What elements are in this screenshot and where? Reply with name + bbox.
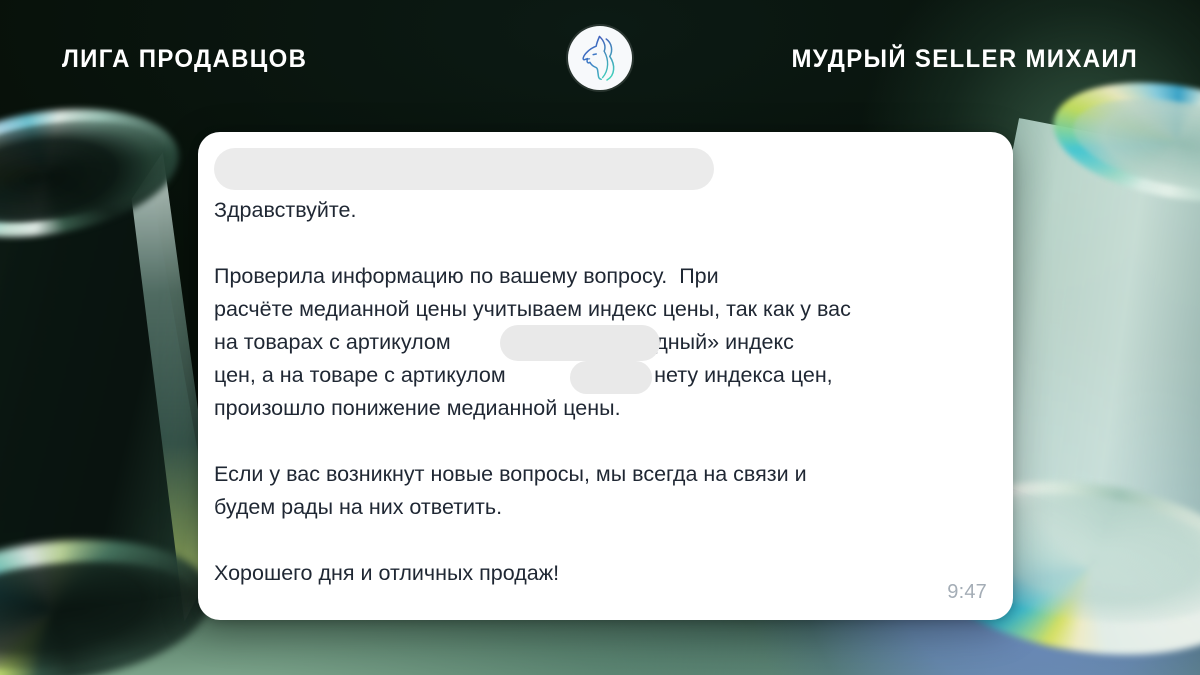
chat-message-card[interactable]: Здравствуйте. Проверила информацию по ва… xyxy=(198,132,1013,620)
brand-left-title: ЛИГА ПРОДАВЦОВ xyxy=(62,45,307,74)
page-header: ЛИГА ПРОДАВЦОВ МУДРЫЙ SELLER МИХАИЛ xyxy=(0,0,1200,118)
screenshot-stage: ЛИГА ПРОДАВЦОВ МУДРЫЙ SELLER МИХАИЛ xyxy=(0,0,1200,675)
redacted-article-number-1 xyxy=(500,325,660,361)
message-timestamp: 9:47 xyxy=(947,581,987,604)
redacted-sender-name xyxy=(214,148,714,190)
redacted-article-number-2 xyxy=(570,361,652,394)
brand-right-title: МУДРЫЙ SELLER МИХАИЛ xyxy=(791,45,1138,74)
